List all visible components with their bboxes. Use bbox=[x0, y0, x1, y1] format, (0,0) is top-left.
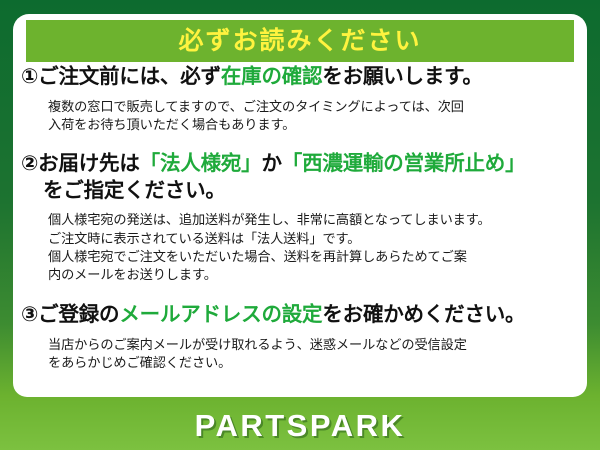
header-banner: 必ずお読みください bbox=[26, 20, 574, 62]
item-3-headline-part-1: ③ご登録の bbox=[21, 303, 119, 326]
spacer bbox=[21, 329, 581, 336]
item-2-subline-2: ご注文時に表示されている送料は「法人送料」です。 bbox=[21, 230, 581, 248]
notice-frame: 必ずお読みください ①ご注文前には、必ず在庫の確認をお願いします。 複数の窓口で… bbox=[0, 0, 600, 450]
item-3-headline-accent: メールアドレスの設定 bbox=[119, 303, 322, 326]
item-2-headline-accent-1: 「法人様宛」 bbox=[140, 152, 262, 175]
notice-item-3: ③ご登録のメールアドレスの設定をお確かめください。 当店からのご案内メールが受け… bbox=[21, 302, 581, 372]
item-2-headline-accent-2: 「西濃運輸の営業所止め」 bbox=[282, 152, 526, 175]
item-1-headline-part-1: ①ご注文前には、必ず bbox=[21, 65, 221, 88]
brand-logo-text: PARTSPARK bbox=[195, 410, 406, 441]
spacer bbox=[21, 204, 581, 211]
notice-item-2: ②お届け先は「法人様宛」か「西濃運輸の営業所止め」 をご指定ください。 個人様宅… bbox=[21, 151, 581, 284]
footer-bar: PARTSPARK bbox=[0, 400, 600, 450]
item-1-headline-part-3: をお願いします。 bbox=[322, 65, 482, 88]
item-3-headline-part-3: をお確かめください。 bbox=[322, 303, 525, 326]
spacer bbox=[21, 138, 581, 151]
item-2-subline-1: 個人様宅宛の発送は、追加送料が発生し、非常に高額となってしまいます。 bbox=[21, 211, 581, 229]
item-1-subline-2: 入荷をお待ち頂いただく場合もあります。 bbox=[21, 116, 581, 134]
item-2-headline-continuation: をご指定ください。 bbox=[21, 178, 581, 205]
notice-item-1: ①ご注文前には、必ず在庫の確認をお願いします。 複数の窓口で販売してますので、ご… bbox=[21, 64, 581, 134]
spacer bbox=[21, 91, 581, 98]
spacer bbox=[21, 288, 581, 302]
item-1-headline: ①ご注文前には、必ず在庫の確認をお願いします。 bbox=[21, 64, 581, 91]
item-2-headline-part-3: か bbox=[261, 152, 281, 175]
banner-title: 必ずお読みください bbox=[178, 29, 421, 54]
item-3-headline: ③ご登録のメールアドレスの設定をお確かめください。 bbox=[21, 302, 581, 329]
item-2-headline: ②お届け先は「法人様宛」か「西濃運輸の営業所止め」 bbox=[21, 151, 581, 178]
item-2-headline-part-1: ②お届け先は bbox=[21, 152, 140, 175]
item-1-headline-accent: 在庫の確認 bbox=[221, 65, 323, 88]
item-3-subline-2: をあらかじめご確認ください。 bbox=[21, 354, 581, 372]
notice-card: 必ずお読みください ①ご注文前には、必ず在庫の確認をお願いします。 複数の窓口で… bbox=[13, 14, 587, 397]
item-2-subline-3: 個人様宅宛でご注文をいただいた場合、送料を再計算しあらためてご案 bbox=[21, 248, 581, 266]
item-1-subline-1: 複数の窓口で販売してますので、ご注文のタイミングによっては、次回 bbox=[21, 98, 581, 116]
item-2-subline-4: 内のメールをお送りします。 bbox=[21, 266, 581, 284]
item-3-subline-1: 当店からのご案内メールが受け取れるよう、迷惑メールなどの受信設定 bbox=[21, 336, 581, 354]
notice-body: ①ご注文前には、必ず在庫の確認をお願いします。 複数の窓口で販売してますので、ご… bbox=[13, 64, 587, 376]
